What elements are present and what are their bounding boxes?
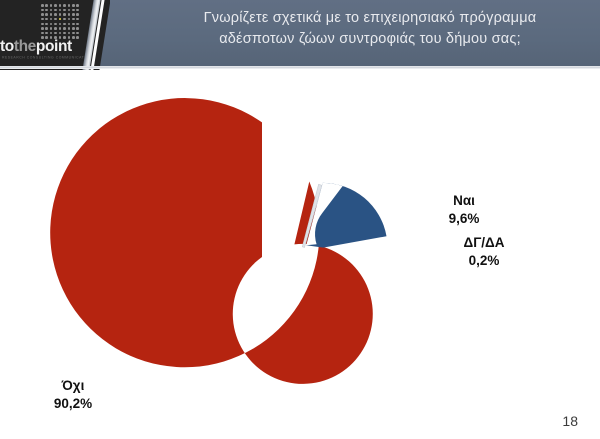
header-bottom-edge <box>0 66 600 69</box>
pie-chart: Ναι 9,6% ΔΓ/ΔΑ 0,2% Όχι 90,2% <box>0 70 600 410</box>
label-dgda-name: ΔΓ/ΔΑ <box>463 235 504 250</box>
page-title-line-1: Γνωρίζετε σχετικά με το επιχειρησιακό πρ… <box>204 10 537 26</box>
page-number: 18 <box>562 413 578 429</box>
label-dgda-value: 0,2% <box>424 252 544 270</box>
label-nai-name: Ναι <box>453 193 475 208</box>
slide-header: Γνωρίζετε σχετικά με το επιχειρησιακό πρ… <box>0 0 600 70</box>
label-oxi-name: Όχι <box>62 378 85 393</box>
logo-dot-matrix-icon <box>40 3 80 40</box>
label-oxi-value: 90,2% <box>18 395 128 413</box>
label-nai-value: 9,6% <box>404 210 524 228</box>
logo-word-the: the <box>14 38 36 55</box>
label-nai: Ναι 9,6% <box>404 192 524 228</box>
label-oxi: Όχι 90,2% <box>18 377 128 413</box>
brand-logo: tothepoint RESEARCH CONSULTING COMMUNICA… <box>0 0 110 70</box>
page-title-line-2: αδέσποτων ζώων συντροφιάς του δήμου σας; <box>150 29 590 50</box>
page-title: Γνωρίζετε σχετικά με το επιχειρησιακό πρ… <box>150 8 590 50</box>
logo-tagline: RESEARCH CONSULTING COMMUNICATION <box>2 55 94 60</box>
logo-wordmark: tothepoint <box>0 38 92 56</box>
label-dgda: ΔΓ/ΔΑ 0,2% <box>424 234 544 270</box>
logo-word-point: point <box>36 38 72 55</box>
logo-word-to: to <box>0 38 14 55</box>
